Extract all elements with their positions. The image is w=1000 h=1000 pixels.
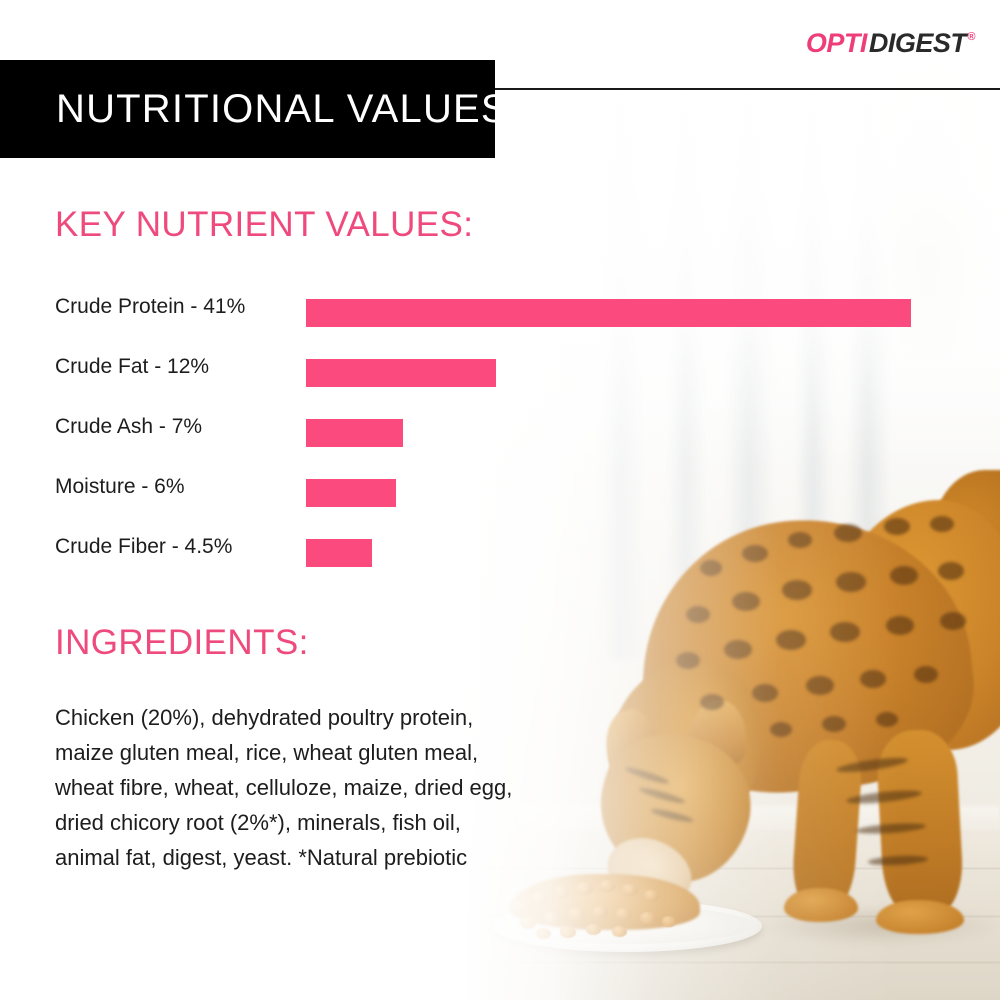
key-nutrient-values-heading: KEY NUTRIENT VALUES:	[55, 205, 473, 245]
chart-row-label: Crude Fiber - 4.5%	[55, 533, 295, 561]
chart-row-label: Moisture - 6%	[55, 473, 295, 501]
chart-row-label: Crude Fat - 12%	[55, 353, 295, 381]
chart-row: Crude Fiber - 4.5%	[55, 533, 935, 593]
chart-row: Crude Fat - 12%	[55, 353, 935, 413]
title-divider-rule	[495, 88, 1000, 90]
chart-row-label: Crude Ash - 7%	[55, 413, 295, 441]
chart-bar-crude-fiber	[306, 539, 372, 567]
nutrition-infographic: NUTRITIONAL VALUES OPTI DIGEST ® KEY NUT…	[0, 0, 1000, 1000]
chart-bar-crude-ash	[306, 419, 403, 447]
chart-bar-crude-protein	[306, 299, 911, 327]
nutrient-bar-chart: Crude Protein - 41% Crude Fat - 12% Crud…	[55, 293, 935, 593]
brand-logo: OPTI DIGEST ®	[806, 28, 975, 59]
chart-bar-moisture	[306, 479, 396, 507]
registered-mark-icon: ®	[967, 31, 975, 43]
logo-digest-text: DIGEST	[869, 28, 967, 59]
chart-row-label: Crude Protein - 41%	[55, 293, 295, 321]
ingredients-heading: INGREDIENTS:	[55, 623, 309, 663]
page-title: NUTRITIONAL VALUES	[0, 87, 509, 132]
chart-row: Crude Ash - 7%	[55, 413, 935, 473]
chart-row: Moisture - 6%	[55, 473, 935, 533]
chart-bar-crude-fat	[306, 359, 496, 387]
logo-opti-text: OPTI	[806, 28, 867, 59]
page-title-banner: NUTRITIONAL VALUES	[0, 60, 495, 158]
chart-row: Crude Protein - 41%	[55, 293, 935, 353]
ingredients-body: Chicken (20%), dehydrated poultry protei…	[55, 700, 525, 875]
